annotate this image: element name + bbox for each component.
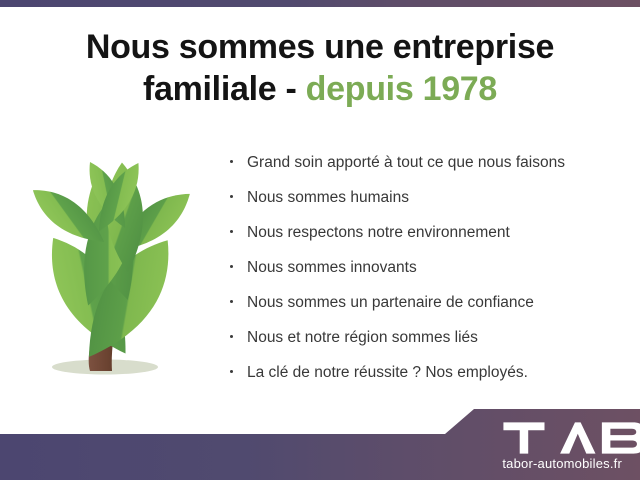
top-accent-bar <box>0 0 640 7</box>
headline-line-1: Nous sommes une entreprise <box>0 26 640 68</box>
slide-canvas: Nous sommes une entreprise familiale - d… <box>0 0 640 480</box>
bullet-dot-icon <box>230 230 233 233</box>
list-item: Nous respectons notre environnement <box>228 222 628 243</box>
tree-illustration <box>12 150 218 382</box>
logo-wordmark <box>502 421 624 455</box>
list-item: Nous sommes innovants <box>228 257 628 278</box>
headline-accent: depuis 1978 <box>306 70 497 108</box>
value-bullet-list: Grand soin apporté à tout ce que nous fa… <box>228 152 628 397</box>
list-item-label: Nous et notre région sommes liés <box>247 329 478 346</box>
bullet-dot-icon <box>230 335 233 338</box>
logo-tagline: tabor-automobiles.fr <box>502 456 622 472</box>
list-item-label: Grand soin apporté à tout ce que nous fa… <box>247 154 565 171</box>
headline-dash: - <box>276 70 305 108</box>
list-item-label: Nous respectons notre environnement <box>247 224 510 241</box>
bullet-dot-icon <box>230 195 233 198</box>
list-item: Nous sommes humains <box>228 187 628 208</box>
list-item-label: Nous sommes humains <box>247 189 409 206</box>
footer-band: tabor-automobiles.fr <box>0 400 640 480</box>
page-title: Nous sommes une entreprise familiale - d… <box>0 26 640 110</box>
headline-line-2: familiale - depuis 1978 <box>0 68 640 110</box>
bullet-dot-icon <box>230 300 233 303</box>
list-item-label: Nous sommes un partenaire de confiance <box>247 294 534 311</box>
brand-logo[interactable]: tabor-automobiles.fr <box>502 421 624 472</box>
list-item-label: La clé de notre réussite ? Nos employés. <box>247 364 528 381</box>
list-item: La clé de notre réussite ? Nos employés. <box>228 362 628 383</box>
list-item: Nous sommes un partenaire de confiance <box>228 292 628 313</box>
bullet-dot-icon <box>230 160 233 163</box>
bullet-dot-icon <box>230 370 233 373</box>
bullet-dot-icon <box>230 265 233 268</box>
list-item-label: Nous sommes innovants <box>247 259 417 276</box>
tree-leaves <box>25 157 199 371</box>
list-item: Grand soin apporté à tout ce que nous fa… <box>228 152 628 173</box>
headline-line-2-prefix: familiale <box>143 70 276 108</box>
list-item: Nous et notre région sommes liés <box>228 327 628 348</box>
